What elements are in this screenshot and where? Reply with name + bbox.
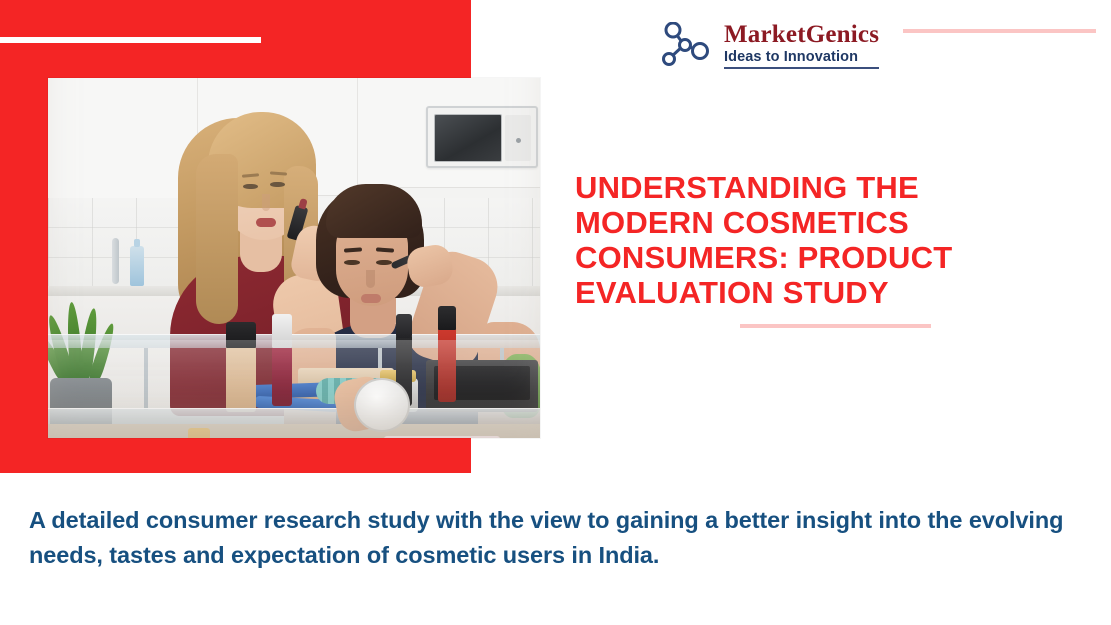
pink-accent-rule-under-title bbox=[740, 324, 931, 328]
foundation-bottle bbox=[226, 346, 256, 412]
network-nodes-icon bbox=[660, 22, 712, 68]
woman-one-nose bbox=[262, 194, 270, 211]
brand-logo-text: MarketGenics Ideas to Innovation bbox=[724, 22, 879, 69]
woman-two-nose bbox=[366, 270, 375, 288]
pink-accent-rule-top bbox=[903, 29, 1096, 33]
brand-name: MarketGenics bbox=[724, 22, 879, 47]
kitchen-cabinet bbox=[48, 78, 198, 200]
lipgloss-cap bbox=[272, 314, 292, 348]
woman-one-lips bbox=[256, 218, 276, 227]
glass-table-edge bbox=[48, 334, 540, 348]
pink-box-lid bbox=[384, 436, 500, 438]
brand-logo[interactable]: MarketGenics Ideas to Innovation bbox=[660, 22, 879, 69]
woman-one-eye bbox=[243, 184, 258, 189]
woman-two-lips bbox=[361, 294, 381, 303]
gold-cosmetic-tube bbox=[188, 428, 210, 438]
white-accent-rule bbox=[0, 37, 261, 43]
foundation-cap bbox=[226, 322, 256, 348]
microwave-button bbox=[516, 138, 521, 143]
woman-two-eye bbox=[344, 260, 360, 265]
microwave-window bbox=[434, 114, 502, 162]
table-leg bbox=[144, 348, 148, 410]
cabinet-handle bbox=[112, 238, 119, 284]
slide-root: MarketGenics Ideas to Innovation UNDERST… bbox=[0, 0, 1111, 625]
microwave-appliance bbox=[426, 106, 538, 168]
hero-image bbox=[48, 78, 540, 438]
mascara-cap bbox=[396, 314, 412, 338]
red-lipgloss-cap bbox=[438, 306, 456, 330]
hero-image-scene bbox=[48, 78, 540, 438]
glass-table-surface bbox=[48, 408, 540, 424]
brand-tagline: Ideas to Innovation bbox=[724, 50, 879, 69]
lipgloss-bottle bbox=[272, 346, 292, 406]
compact-mirror bbox=[354, 378, 410, 432]
woman-two-eye bbox=[376, 260, 392, 265]
page-title: UNDERSTANDING THE MODERN COSMETICS CONSU… bbox=[575, 170, 995, 310]
page-subtitle: A detailed consumer research study with … bbox=[29, 503, 1091, 574]
soap-bottle bbox=[130, 246, 144, 286]
woman-one-hair-strand bbox=[196, 154, 238, 324]
woman-two-hair-front bbox=[326, 184, 422, 238]
woman-one-eye bbox=[270, 182, 285, 187]
red-lipgloss bbox=[438, 326, 456, 402]
